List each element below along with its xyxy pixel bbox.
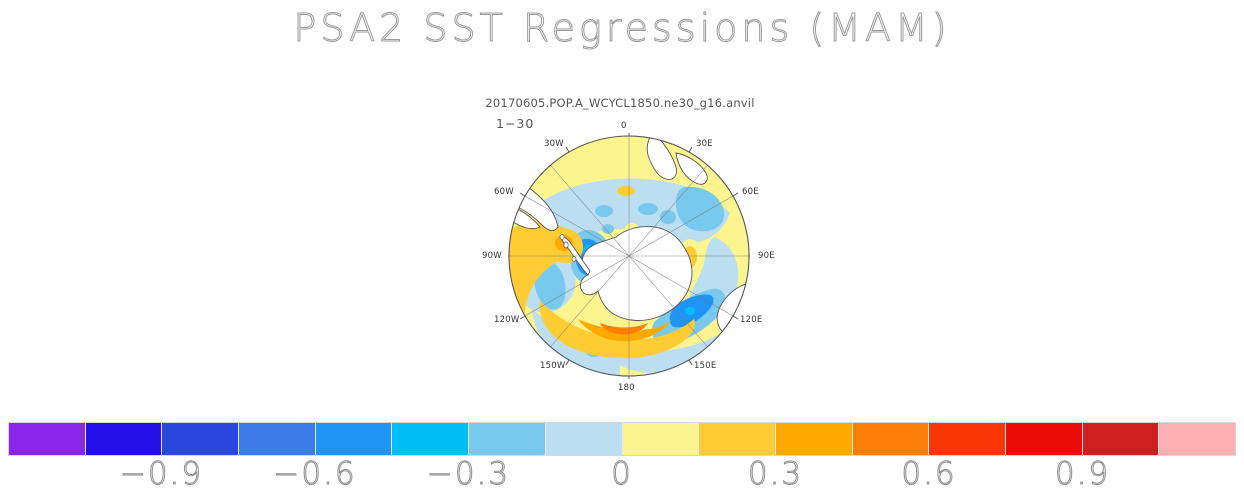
colorbar-tick-labels: −0.9−0.6−0.300.30.60.9 — [0, 456, 1244, 502]
colorbar-tick--0p6: −0.6 — [273, 456, 356, 492]
colorbar-tick--0p9: −0.9 — [120, 456, 203, 492]
island-c — [572, 257, 576, 262]
lon-label-150e: 150E — [694, 361, 716, 371]
lon-label-120w: 120W — [494, 315, 519, 325]
lon-label-60e: 60E — [742, 187, 759, 197]
lon-label-0: 0 — [621, 121, 627, 131]
colorbar-tick-0: 0 — [611, 456, 633, 492]
colorbar-tick-0p9: 0.9 — [1055, 456, 1110, 492]
colorbar-tick-0p6: 0.6 — [901, 456, 956, 492]
colorbar-swatch-0[interactable] — [9, 423, 86, 455]
colorbar-swatch-1[interactable] — [86, 423, 163, 455]
colorbar[interactable] — [8, 422, 1236, 456]
colorbar-swatch-8[interactable] — [623, 423, 700, 455]
colorbar-swatch-7[interactable] — [546, 423, 623, 455]
colorbar-swatch-13[interactable] — [1006, 423, 1083, 455]
colorbar-tick-0p3: 0.3 — [748, 456, 803, 492]
colorbar-swatch-9[interactable] — [699, 423, 776, 455]
case-name-subtitle: 20170605.POP.A_WCYCL1850.ne30_g16.anvil — [440, 96, 800, 110]
warm-spot-greenwich — [617, 186, 635, 196]
sst-anomaly-field — [508, 133, 750, 379]
page-title: PSA2 SST Regressions (MAM) — [0, 6, 1244, 50]
lon-label-30e: 30E — [696, 139, 713, 149]
lon-label-90w: 90W — [482, 251, 502, 261]
polar-stereographic-map[interactable]: 0 30E 60E 90E 120E 150E 180 150W 120W 90… — [508, 133, 750, 379]
cool-spot-c — [638, 203, 658, 215]
colorbar-swatch-6[interactable] — [469, 423, 546, 455]
colorbar-swatch-12[interactable] — [929, 423, 1006, 455]
plot-panel: 20170605.POP.A_WCYCL1850.ne30_g16.anvil … — [440, 88, 800, 408]
years-range-label: 1−30 — [496, 116, 534, 131]
tasmania-landmass — [730, 329, 750, 352]
colorbar-swatch-4[interactable] — [316, 423, 393, 455]
cool-peak-120e — [685, 307, 695, 315]
colorbar-swatch-14[interactable] — [1083, 423, 1160, 455]
colorbar-swatch-10[interactable] — [776, 423, 853, 455]
colorbar-swatch-5[interactable] — [392, 423, 469, 455]
island-b — [560, 234, 564, 239]
lon-label-90e: 90E — [758, 251, 775, 261]
lon-label-120e: 120E — [740, 315, 762, 325]
lon-label-30w: 30W — [544, 139, 564, 149]
cool-spot-a — [595, 205, 613, 217]
colorbar-tick--0p3: −0.3 — [427, 456, 510, 492]
colorbar-swatch-15[interactable] — [1159, 423, 1235, 455]
colorbar-swatch-2[interactable] — [162, 423, 239, 455]
colorbar-swatch-3[interactable] — [239, 423, 316, 455]
island-a — [564, 242, 568, 248]
cool-spot-b — [602, 224, 614, 234]
lon-label-180: 180 — [618, 383, 635, 393]
lon-label-150w: 150W — [540, 361, 565, 371]
lon-label-60w: 60W — [494, 187, 514, 197]
colorbar-swatch-11[interactable] — [853, 423, 930, 455]
